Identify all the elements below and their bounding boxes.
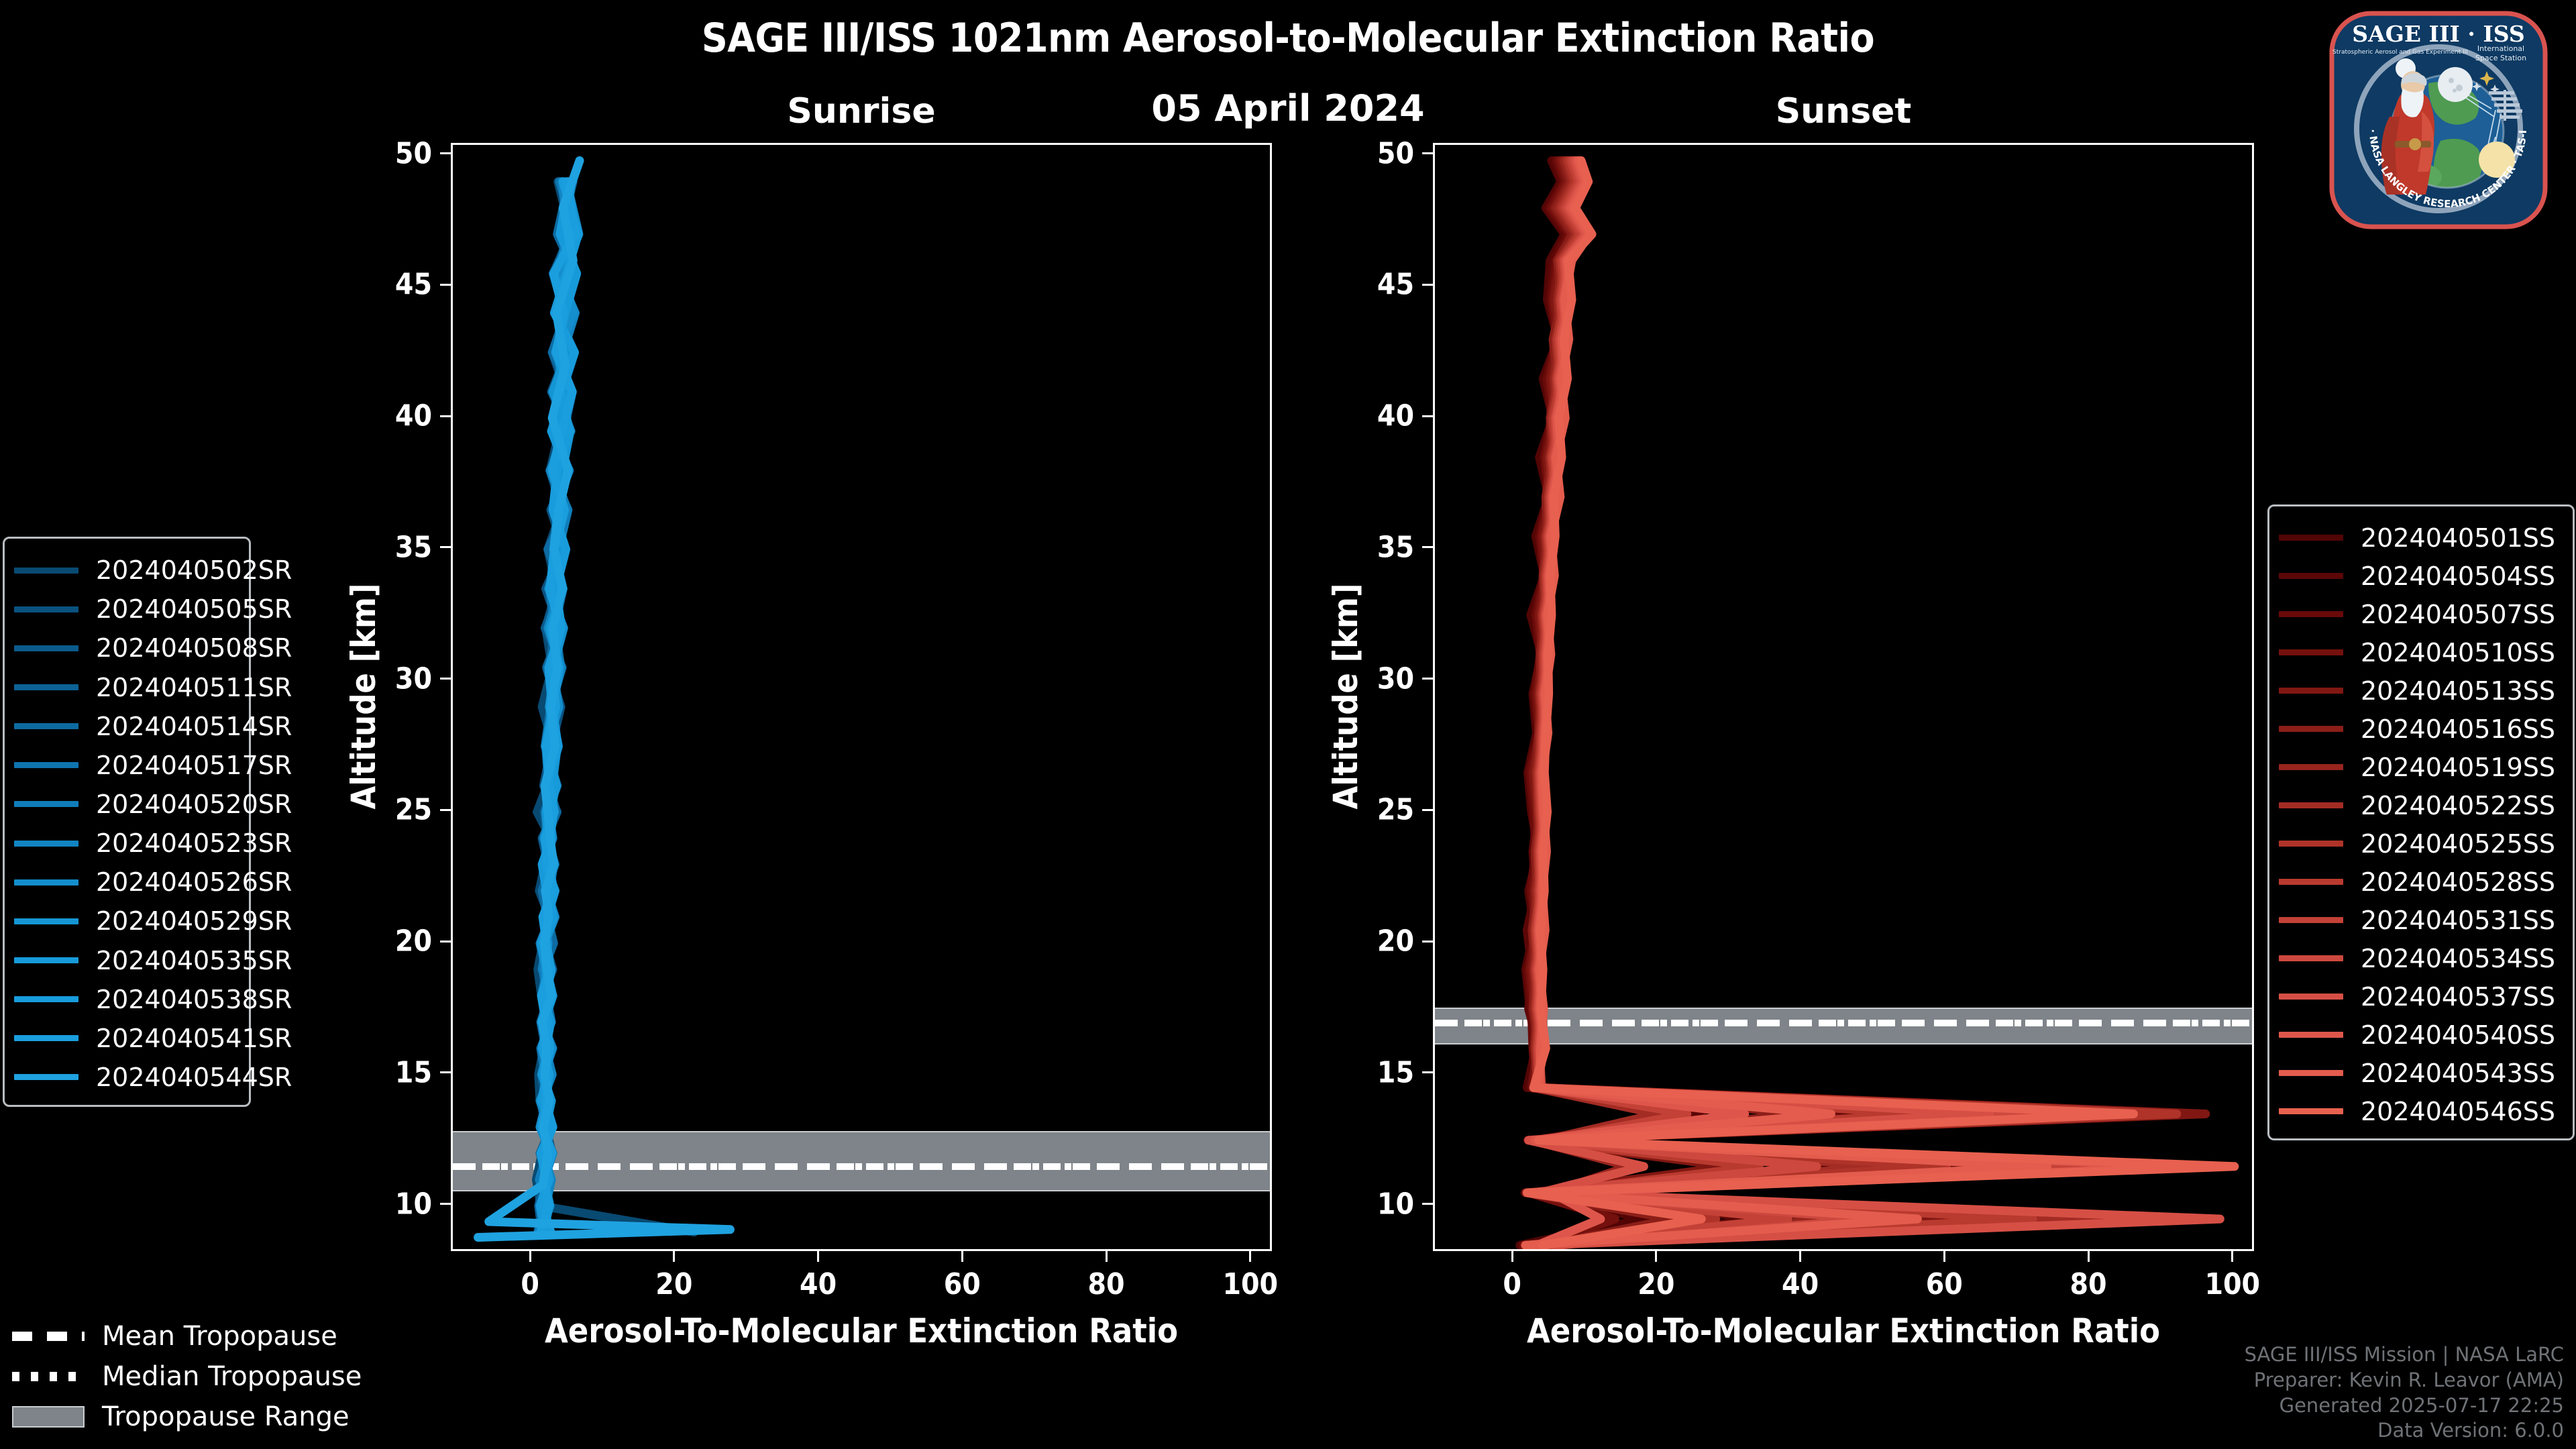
x-axis-tick [1655,1251,1657,1262]
legend-event-label: 2024040507SS [2361,600,2555,629]
legend-event-label: 2024040502SR [96,555,292,585]
x-axis-tick-label: 20 [655,1267,692,1301]
profile-trace [1529,161,2220,1246]
sunset-legend-row[interactable]: 2024040546SS [2279,1097,2555,1126]
patch-title: SAGE III · ISS [2352,21,2524,47]
y-axis-tick [1422,809,1433,811]
sunset-legend-row[interactable]: 2024040513SS [2279,676,2555,706]
sunset-legend-row[interactable]: 2024040540SS [2279,1020,2555,1050]
sunrise-legend-row[interactable]: 2024040508SR [14,633,292,663]
sunset-legend-row[interactable]: 2024040543SS [2279,1059,2555,1088]
legend-event-label: 2024040516SS [2361,714,2555,744]
legend-event-label: 2024040528SS [2361,867,2555,897]
legend-event-label: 2024040522SS [2361,791,2555,820]
y-axis-tick [1422,1203,1433,1205]
sunrise-profile-traces [453,145,1270,1249]
legend-event-label: 2024040544SR [96,1063,292,1092]
y-axis-tick-label: 15 [1332,1055,1414,1089]
legend-event-label: 2024040525SS [2361,829,2555,859]
sunrise-legend-row[interactable]: 2024040514SR [14,712,292,741]
filled-band-icon [12,1406,85,1428]
sunrise-legend-row[interactable]: 2024040502SR [14,555,292,585]
sunset-legend-row[interactable]: 2024040510SS [2279,638,2555,667]
mean-tropopause-key-row: Mean Tropopause [12,1316,361,1356]
median-tropopause-key-row: Median Tropopause [12,1356,361,1397]
legend-event-label: 2024040501SS [2361,523,2555,553]
y-axis-tick [1422,152,1433,154]
legend-color-swatch [2279,802,2343,808]
y-axis-tick [1422,546,1433,548]
legend-color-swatch [2279,879,2343,885]
profile-trace [478,161,731,1238]
legend-color-swatch [14,801,78,807]
legend-color-swatch [2279,994,2343,1000]
legend-event-label: 2024040537SS [2361,982,2555,1012]
legend-color-swatch [14,568,78,574]
sunset-plot-area [1435,145,2252,1249]
x-axis-tick [2231,1251,2233,1262]
legend-event-label: 2024040511SR [96,673,292,702]
y-axis-tick [440,1071,451,1073]
legend-color-swatch [2279,649,2343,655]
legend-color-swatch [2279,611,2343,617]
legend-color-swatch [14,996,78,1002]
sunset-legend-row[interactable]: 2024040528SS [2279,867,2555,897]
sunrise-legend-row[interactable]: 2024040535SR [14,946,292,975]
legend-event-label: 2024040519SS [2361,753,2555,782]
y-axis-tick-label: 50 [1332,136,1414,170]
y-axis-tick [440,678,451,680]
profile-trace [1525,161,2047,1246]
sunrise-legend-row[interactable]: 2024040511SR [14,673,292,702]
sunrise-legend-row[interactable]: 2024040538SR [14,985,292,1014]
x-axis-tick-label: 80 [1088,1267,1125,1301]
y-axis-tick-label: 20 [350,924,432,959]
sunrise-legend-row[interactable]: 2024040529SR [14,906,292,936]
patch-subtitle-right-2: Space Station [2475,54,2526,62]
sunset-legend-row[interactable]: 2024040537SS [2279,982,2555,1012]
sunset-legend-row[interactable]: 2024040534SS [2279,944,2555,973]
y-axis-tick [1422,678,1433,680]
profile-trace [1523,161,2162,1246]
sunset-profile-traces [1435,145,2252,1249]
tropopause-legend: Mean Tropopause Median Tropopause Tropop… [12,1316,361,1437]
sunset-legend-row[interactable]: 2024040519SS [2279,753,2555,782]
legend-event-label: 2024040535SR [96,946,292,975]
legend-color-swatch [14,645,78,651]
patch-subtitle-right-1: International [2477,44,2524,53]
legend-color-swatch [2279,535,2343,541]
credit-data-version: Data Version: 6.0.0 [2245,1418,2564,1444]
patch-subtitle-left: Stratospheric Aerosol and Gas Experiment… [2332,49,2468,56]
legend-event-label: 2024040513SS [2361,676,2555,706]
sunrise-x-axis-title: Aerosol-To-Molecular Extinction Ratio [451,1311,1272,1350]
profile-trace [1530,161,2004,1246]
legend-event-label: 2024040504SS [2361,561,2555,591]
sunrise-plot-panel [451,143,1272,1251]
legend-color-swatch [2279,573,2343,579]
y-axis-tick [440,546,451,548]
x-axis-tick-label: 60 [944,1267,981,1301]
x-axis-tick [673,1251,675,1262]
legend-event-label: 2024040505SR [96,594,292,624]
sunset-legend-row[interactable]: 2024040522SS [2279,791,2555,820]
sunset-legend-row[interactable]: 2024040501SS [2279,523,2555,553]
legend-event-label: 2024040508SR [96,633,292,663]
x-axis-tick-label: 60 [1926,1267,1963,1301]
x-axis-tick-label: 40 [1782,1267,1819,1301]
profile-trace [1529,161,2076,1246]
sunset-legend-row[interactable]: 2024040525SS [2279,829,2555,859]
y-axis-tick-label: 10 [1332,1187,1414,1221]
legend-event-label: 2024040531SS [2361,906,2555,935]
x-axis-tick-label: 20 [1638,1267,1674,1301]
x-axis-tick [1799,1251,1801,1262]
profile-trace [1529,161,2091,1246]
y-axis-tick [440,941,451,943]
x-axis-tick [961,1251,963,1262]
y-axis-tick [1422,941,1433,943]
sunrise-legend[interactable]: 2024040502SR2024040505SR2024040508SR2024… [3,537,251,1107]
profile-trace [1525,161,2019,1246]
legend-event-label: 2024040529SR [96,906,292,936]
credit-generated: Generated 2025-07-17 22:25 [2245,1393,2564,1419]
profile-trace [1535,161,2198,1246]
sunrise-legend-row[interactable]: 2024040541SR [14,1024,292,1053]
legend-color-swatch [14,918,78,924]
y-axis-tick [440,415,451,417]
y-axis-tick [440,1203,451,1205]
sage-iii-iss-mission-patch-icon: SAGE III · ISS Stratospheric Aerosol and… [2328,9,2549,231]
x-axis-tick [529,1251,531,1262]
sunset-legend-row[interactable]: 2024040507SS [2279,600,2555,629]
sunrise-y-axis-title: Altitude [km] [344,495,383,898]
x-axis-tick-label: 0 [521,1267,539,1301]
legend-event-label: 2024040526SR [96,867,292,897]
x-axis-tick [1249,1251,1251,1262]
x-axis-tick [817,1251,819,1262]
legend-color-swatch [2279,841,2343,847]
profile-trace [1520,161,1961,1246]
legend-event-label: 2024040520SR [96,790,292,819]
legend-color-swatch [2279,726,2343,732]
sunset-legend-row[interactable]: 2024040516SS [2279,714,2555,744]
legend-color-swatch [14,841,78,847]
legend-color-swatch [2279,1070,2343,1076]
x-axis-tick-label: 100 [1222,1267,1278,1301]
legend-event-label: 2024040546SS [2361,1097,2555,1126]
x-axis-tick-label: 0 [1503,1267,1521,1301]
legend-event-label: 2024040510SS [2361,638,2555,667]
legend-event-label: 2024040538SR [96,985,292,1014]
legend-color-swatch [14,879,78,885]
y-axis-tick-label: 50 [350,136,432,170]
sunset-plot-panel [1433,143,2254,1251]
legend-event-label: 2024040514SR [96,712,292,741]
y-axis-tick-label: 45 [350,268,432,302]
legend-event-label: 2024040534SS [2361,944,2555,973]
legend-color-swatch [14,1074,78,1080]
sunrise-plot-area [453,145,1270,1249]
legend-color-swatch [14,762,78,768]
profile-trace [1533,161,2033,1246]
credits-block: SAGE III/ISS Mission | NASA LaRC Prepare… [2245,1342,2564,1444]
dashed-line-icon [12,1332,85,1341]
sunset-y-axis-title: Altitude [km] [1326,495,1365,898]
sunset-legend-row[interactable]: 2024040504SS [2279,561,2555,591]
y-axis-tick-label: 20 [1332,924,1414,959]
page-title: SAGE III/ISS 1021nm Aerosol-to-Molecular… [0,15,2576,62]
legend-color-swatch [14,723,78,729]
sunrise-legend-row[interactable]: 2024040517SR [14,751,292,780]
legend-event-label: 2024040541SR [96,1024,292,1053]
credit-mission: SAGE III/ISS Mission | NASA LaRC [2245,1342,2564,1368]
y-axis-tick-label: 45 [1332,268,1414,302]
legend-color-swatch [14,1035,78,1041]
profile-trace [1526,161,2061,1246]
y-axis-tick [1422,1071,1433,1073]
profile-trace [1531,161,2177,1246]
y-axis-tick-label: 15 [350,1055,432,1089]
legend-color-swatch [2279,917,2343,923]
sunrise-legend-row[interactable]: 2024040544SR [14,1063,292,1092]
profile-trace [1527,161,2234,1246]
y-axis-tick-label: 40 [1332,399,1414,433]
profile-trace [1525,161,2119,1246]
sunrise-panel-title: Sunrise [451,91,1272,131]
legend-color-swatch [2279,688,2343,694]
legend-color-swatch [14,606,78,612]
legend-event-label: 2024040523SR [96,828,292,858]
x-axis-tick-label: 80 [2070,1267,2107,1301]
legend-color-swatch [2279,1108,2343,1114]
profile-trace [1528,161,2148,1246]
y-axis-tick [1422,415,1433,417]
legend-color-swatch [14,684,78,690]
sunset-legend[interactable]: 2024040501SS2024040504SS2024040507SS2024… [2267,504,2575,1140]
y-axis-tick-label: 10 [350,1187,432,1221]
median-tropopause-label: Median Tropopause [102,1361,362,1392]
y-axis-tick [1422,284,1433,286]
sunset-legend-row[interactable]: 2024040531SS [2279,906,2555,935]
dotted-line-icon [12,1372,85,1381]
y-axis-tick [440,284,451,286]
legend-color-swatch [2279,1032,2343,1038]
y-axis-tick-label: 40 [350,399,432,433]
x-axis-tick [1943,1251,1945,1262]
legend-event-label: 2024040543SS [2361,1059,2555,1088]
profile-trace [1527,161,2205,1246]
x-axis-tick [2088,1251,2090,1262]
mean-tropopause-label: Mean Tropopause [102,1321,337,1352]
tropopause-range-label: Tropopause Range [102,1401,350,1432]
legend-color-swatch [14,957,78,963]
sunrise-legend-row[interactable]: 2024040526SR [14,867,292,897]
sunrise-legend-row[interactable]: 2024040505SR [14,594,292,624]
sunset-panel-title: Sunset [1433,91,2254,131]
credit-preparer: Preparer: Kevin R. Leavor (AMA) [2245,1368,2564,1393]
tropopause-range-key-row: Tropopause Range [12,1397,361,1437]
x-axis-tick-label: 100 [2204,1267,2260,1301]
x-axis-tick [1106,1251,1108,1262]
y-axis-tick [440,809,451,811]
sunset-x-axis-title: Aerosol-To-Molecular Extinction Ratio [1433,1311,2254,1350]
sunrise-legend-row[interactable]: 2024040520SR [14,790,292,819]
legend-event-label: 2024040517SR [96,751,292,780]
legend-color-swatch [2279,955,2343,961]
x-axis-tick [1511,1251,1513,1262]
y-axis-tick [440,152,451,154]
legend-color-swatch [2279,764,2343,770]
x-axis-tick-label: 40 [800,1267,837,1301]
sunrise-legend-row[interactable]: 2024040523SR [14,828,292,858]
legend-event-label: 2024040540SS [2361,1020,2555,1050]
